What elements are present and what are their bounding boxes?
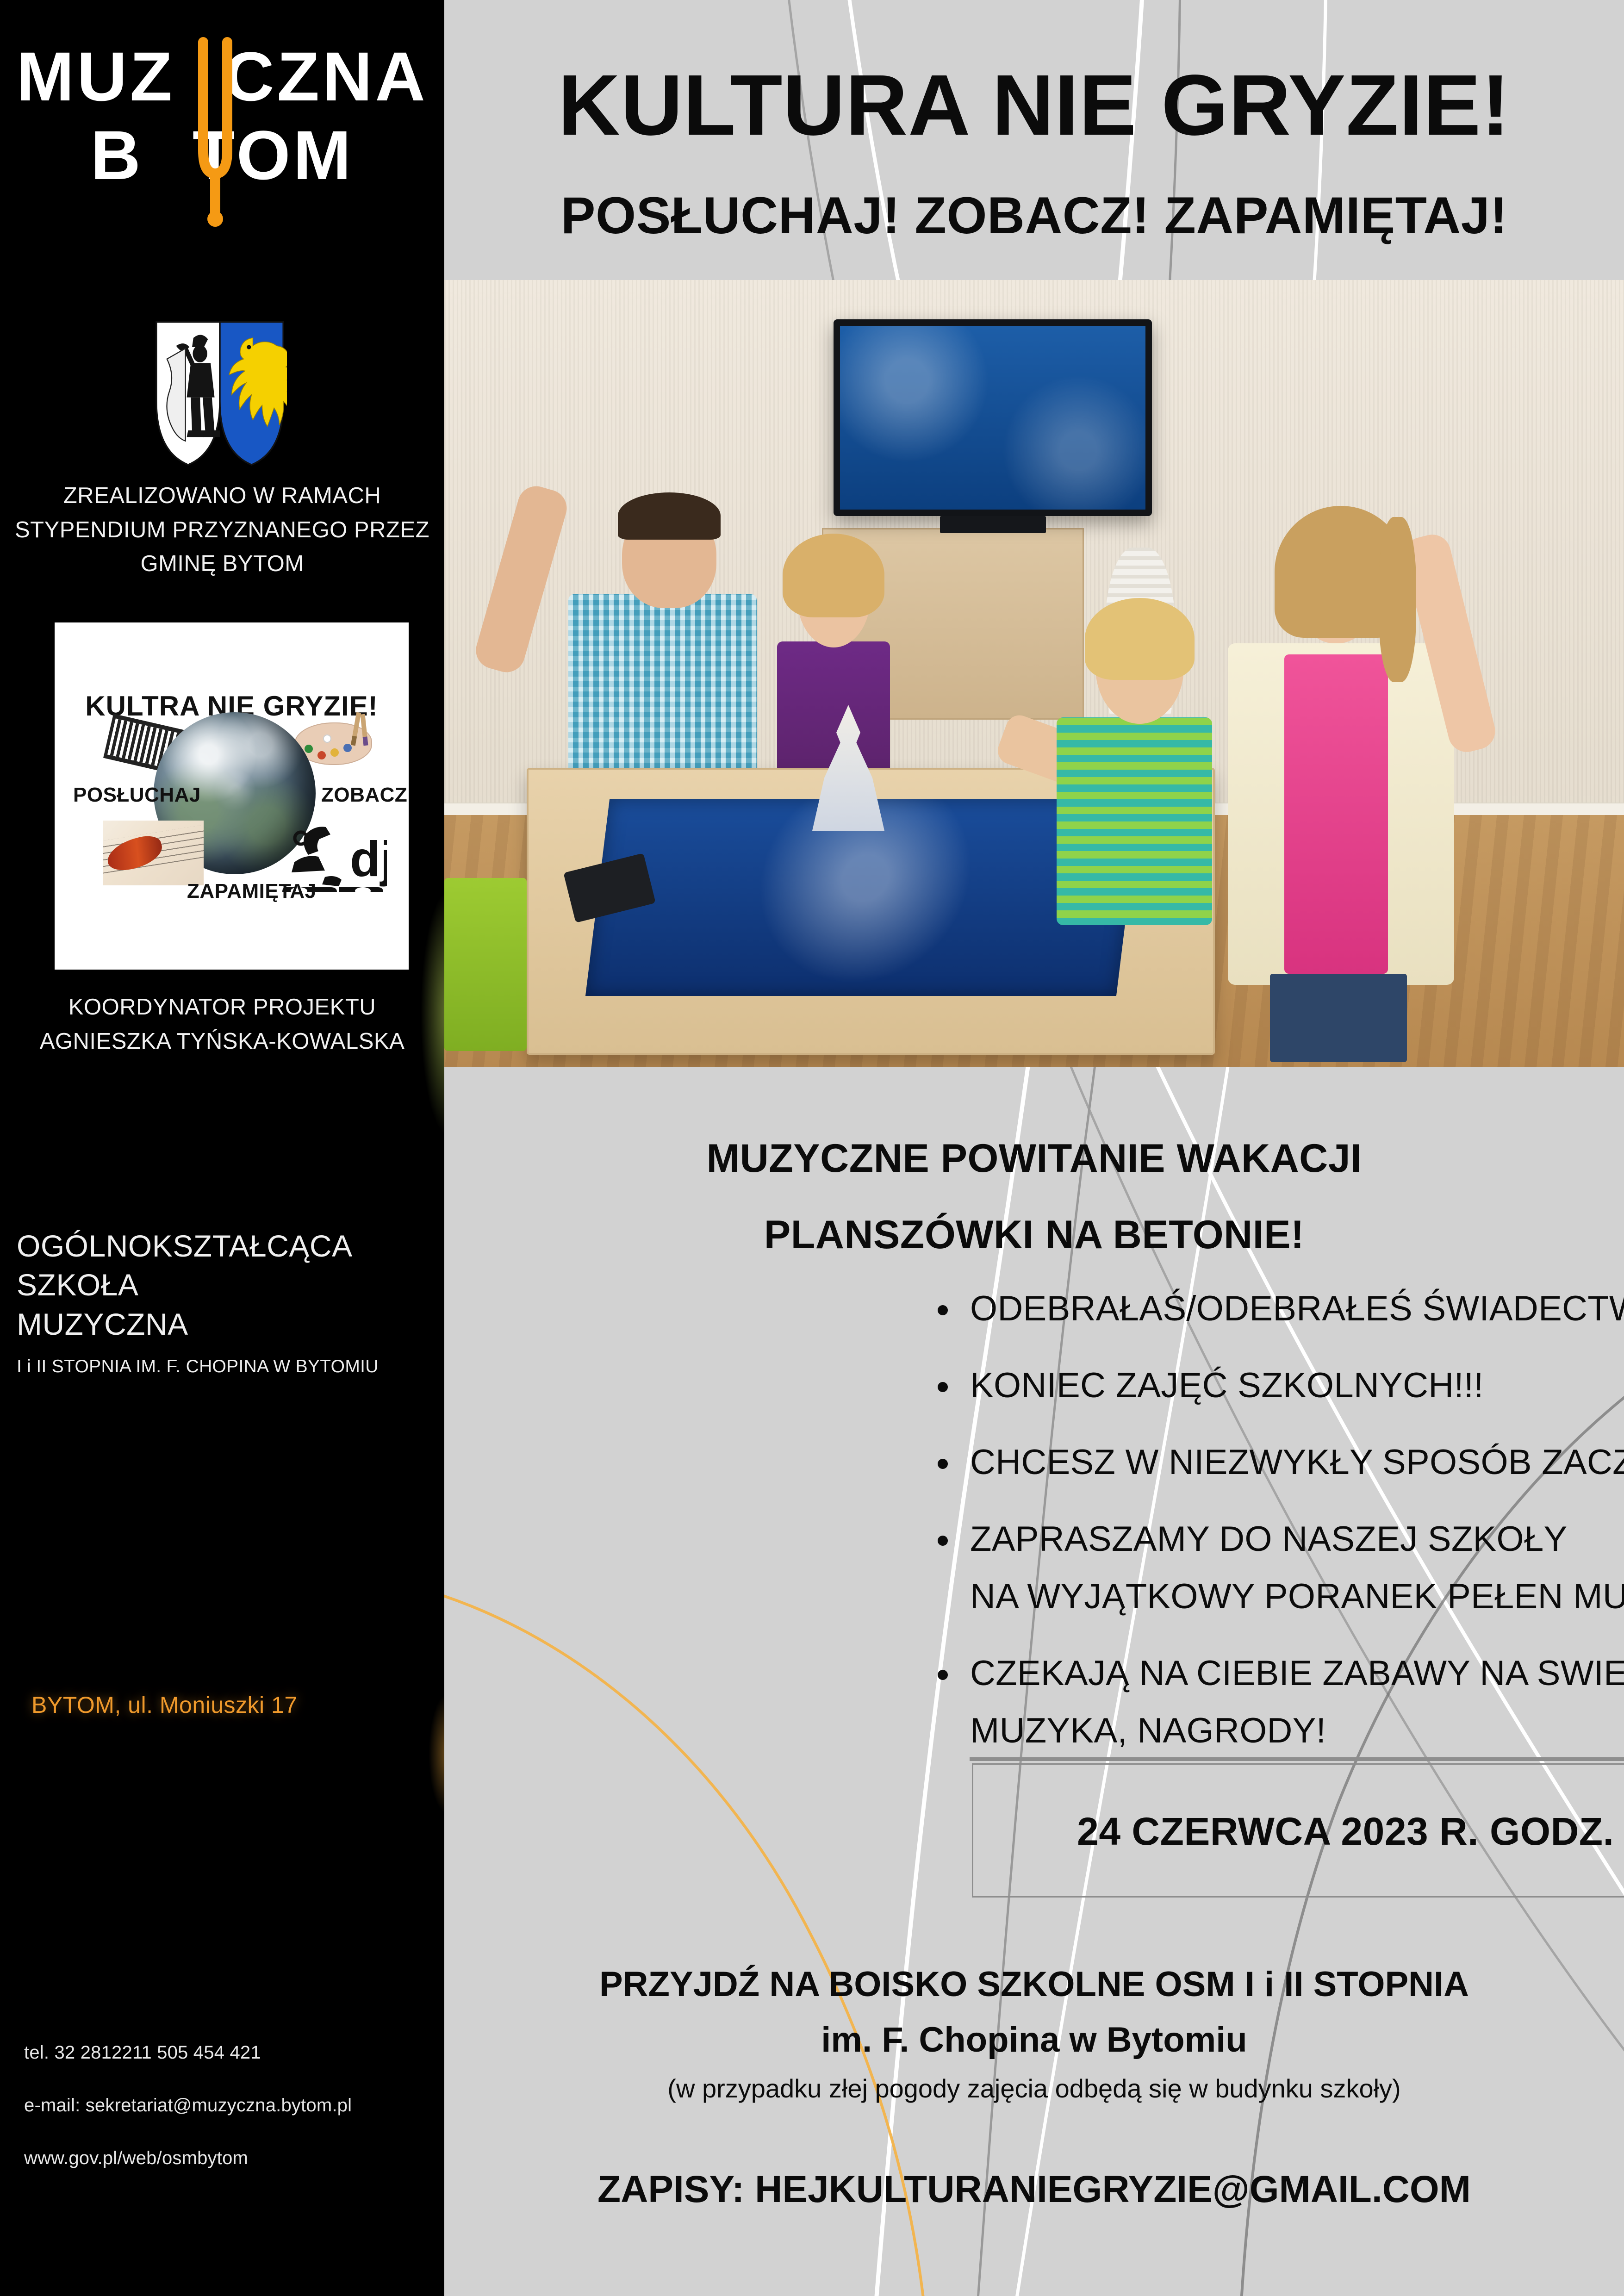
school-subtitle: I i II STOPNIA IM. F. CHOPINA W BYTOMIU (17, 1356, 433, 1377)
school-line-2: SZKOŁA (17, 1265, 433, 1304)
bullet-text-continuation: MUZYKA, NAGRODY! (970, 1713, 1624, 1748)
list-item: CHCESZ W NIEZWYKŁY SPOSÓB ZACZĄĆ WAKACJE… (930, 1445, 1624, 1480)
photo-tv-screen (840, 326, 1145, 510)
school-address: BYTOM, ul. Moniuszki 17 (31, 1692, 298, 1718)
photo-person-mother (1223, 500, 1459, 1051)
project-logo-word-remember: ZAPAMIĘTAJ (187, 880, 317, 903)
section-heading-1: MUZYCZNE POWITANIE WAKACJI (444, 1139, 1624, 1178)
signup-email[interactable]: ZAPISY: HEJKULTURANIEGRYZIE@GMAIL.COM (444, 2171, 1624, 2209)
family-board-game-photo (444, 280, 1624, 1067)
bullet-text: ZAPRASZAMY DO NASZEJ SZKOŁY (970, 1519, 1568, 1559)
page-title: KULTURA NIE GRYZIE! (444, 62, 1624, 149)
main-column: KULTURA NIE GRYZIE! POSŁUCHAJ! ZOBACZ! Z… (444, 0, 1624, 2296)
school-line-3: MUZYCZNA (17, 1305, 433, 1344)
bullet-text: CZEKAJĄ NA CIEBIE ZABAWY NA SWIEŻYM POWI… (970, 1654, 1624, 1693)
sidebar-orange-glow (429, 1694, 444, 1814)
contact-block: tel. 32 2812211 505 454 421 e-mail: sekr… (24, 2043, 441, 2202)
bullet-text: ODEBRAŁAŚ/ODEBRAŁEŚ ŚWIADECTWO? (970, 1289, 1624, 1328)
school-name-block: OGÓLNOKSZTAŁCĄCA SZKOŁA MUZYCZNA I i II … (17, 1226, 433, 1377)
svg-text:dj: dj (350, 831, 387, 887)
photo-tv-stand (940, 516, 1046, 533)
venue-line-2: im. F. Chopina w Bytomiu (444, 2022, 1624, 2058)
bullet-text: CHCESZ W NIEZWYKŁY SPOSÓB ZACZĄĆ WAKACJE… (970, 1443, 1624, 1482)
bullet-text-continuation: NA WYJĄTKOWY PORANEK PEŁEN MUZYCZNYCH GI… (970, 1579, 1624, 1614)
contact-phone: tel. 32 2812211 505 454 421 (24, 2043, 441, 2062)
venue-line-1: PRZYJDŹ NA BOISKO SZKOLNE OSM I i II STO… (444, 1967, 1624, 2002)
project-logo-inner: KULTRA NIE GRYZIE! (63, 631, 400, 961)
photo-green-chair (444, 878, 527, 1051)
list-item: ODEBRAŁAŚ/ODEBRAŁEŚ ŚWIADECTWO? (930, 1291, 1624, 1326)
contact-email[interactable]: e-mail: sekretariat@muzyczna.bytom.pl (24, 2096, 441, 2115)
section-heading-2: PLANSZÓWKI NA BETONIE! (444, 1215, 1624, 1255)
list-item: KONIEC ZAJĘĆ SZKOLNYCH!!! (930, 1368, 1624, 1403)
project-logo-word-see: ZOBACZ (321, 784, 407, 807)
bytom-coat-of-arms-icon (153, 319, 287, 467)
bullet-list: ODEBRAŁAŚ/ODEBRAŁEŚ ŚWIADECTWO? KONIEC Z… (930, 1291, 1624, 1790)
violin-sheet-music-icon (103, 821, 204, 885)
project-logo-card: KULTRA NIE GRYZIE! (55, 622, 409, 970)
grant-credit-text: ZREALIZOWANO W RAMACH STYPENDIUM PRZYZNA… (0, 479, 444, 581)
contact-website[interactable]: www.gov.pl/web/osmbytom (24, 2149, 441, 2167)
bullet-text: KONIEC ZAJĘĆ SZKOLNYCH!!! (970, 1366, 1484, 1405)
list-item: CZEKAJĄ NA CIEBIE ZABAWY NA SWIEŻYM POWI… (930, 1656, 1624, 1748)
coordinator-block: KOORDYNATOR PROJEKTU AGNIESZKA TYŃSKA-KO… (0, 990, 444, 1058)
poster-root: MUZYCZNA BYTOM (0, 0, 1624, 2296)
venue-weather-note: (w przypadku złej pogody zajęcia odbędą … (444, 2076, 1624, 2102)
list-item: ZAPRASZAMY DO NASZEJ SZKOŁY NA WYJĄTKOWY… (930, 1522, 1624, 1614)
event-date-time: 24 CZERWCA 2023 R. GODZ. 10.00 - 12.00 (972, 1812, 1624, 1851)
school-line-1: OGÓLNOKSZTAŁCĄCA (17, 1226, 433, 1265)
photo-television (834, 319, 1152, 516)
coordinator-name: AGNIESZKA TYŃSKA-KOWALSKA (0, 1025, 444, 1059)
photo-person-boy (1046, 610, 1223, 925)
page-subtitle: POSŁUCHAJ! ZOBACZ! ZAPAMIĘTAJ! (444, 190, 1624, 242)
coordinator-label: KOORDYNATOR PROJEKTU (0, 990, 444, 1025)
project-logo-word-listen: POSŁUCHAJ (73, 784, 201, 807)
tuning-fork-icon (187, 35, 243, 229)
sidebar: MUZYCZNA BYTOM (0, 0, 444, 2296)
brand-logo: MUZYCZNA BYTOM (0, 42, 444, 241)
